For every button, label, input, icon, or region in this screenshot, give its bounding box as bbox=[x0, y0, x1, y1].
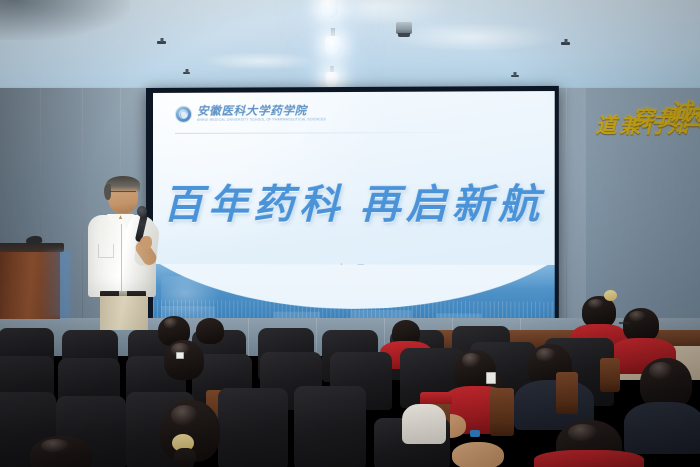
wall-calligraphy: 知 行 兼 道 中 西 贯 穿 博 学 精 诚 bbox=[586, 88, 700, 318]
speaker-presenter bbox=[82, 178, 160, 328]
slide-footer-band bbox=[153, 264, 555, 324]
sprinkler-icon bbox=[157, 41, 166, 44]
seat-armrest bbox=[600, 358, 620, 392]
audience-shoulders bbox=[402, 404, 446, 444]
slide-title: 百年药科 再启新航 bbox=[153, 185, 555, 226]
slide-header: 安徽医科大学药学院 ANHUI MEDICAL UNIVERSITY SCHOO… bbox=[175, 105, 326, 123]
lecture-hall-photo: 知 行 兼 道 中 西 贯 穿 博 学 精 诚 安徽医科大学药学院 bbox=[0, 0, 700, 467]
screen-surface: 安徽医科大学药学院 ANHUI MEDICAL UNIVERSITY SCHOO… bbox=[153, 91, 555, 324]
audience-arm bbox=[452, 442, 504, 467]
wristwatch-icon bbox=[470, 430, 480, 437]
speaker-hand bbox=[140, 236, 152, 249]
sprinkler-icon bbox=[183, 72, 190, 74]
sprinkler-icon bbox=[511, 75, 519, 77]
calligraphy-char: 精 bbox=[692, 100, 700, 123]
audience-head bbox=[30, 436, 92, 467]
lamp-bulb bbox=[321, 0, 338, 18]
audience-shoulders bbox=[624, 402, 700, 454]
speaker-trousers bbox=[100, 296, 148, 330]
institution-name-en: ANHUI MEDICAL UNIVERSITY SCHOOL OF PHARM… bbox=[197, 119, 326, 123]
ponytail bbox=[174, 448, 196, 467]
armrest-pad bbox=[420, 392, 452, 404]
hair-clip bbox=[176, 352, 184, 359]
audience-shoulders bbox=[534, 450, 644, 467]
seat-armrest bbox=[490, 388, 514, 436]
calligraphy-char: 道 bbox=[594, 114, 615, 135]
ceiling bbox=[0, 0, 700, 92]
ceiling-speaker-icon bbox=[396, 22, 412, 34]
projection-screen[interactable]: 安徽医科大学药学院 ANHUI MEDICAL UNIVERSITY SCHOO… bbox=[146, 86, 559, 328]
microphone-head-icon bbox=[137, 206, 147, 217]
calligraphy-char: 穿 bbox=[630, 106, 652, 128]
speaker-glasses-icon bbox=[110, 191, 136, 196]
speaker-shirt-pocket bbox=[98, 244, 114, 258]
calligraphy-column-1: 博 学 精 诚 bbox=[666, 100, 700, 123]
seat-armrest bbox=[556, 372, 578, 414]
ceiling-smudge bbox=[200, 52, 320, 70]
lamp-bulb bbox=[325, 36, 341, 56]
lamp-bulb bbox=[326, 72, 339, 88]
audience-head bbox=[164, 340, 204, 380]
presentation-slide: 安徽医科大学药学院 ANHUI MEDICAL UNIVERSITY SCHOO… bbox=[153, 91, 555, 324]
calligraphy-char: 诚 bbox=[666, 100, 689, 123]
sprinkler-icon bbox=[561, 42, 570, 45]
audience-head bbox=[623, 308, 659, 342]
hair-scrunchie bbox=[604, 290, 617, 301]
speaker-shirt-placket bbox=[121, 224, 122, 294]
ceiling-smudge bbox=[390, 22, 560, 52]
university-crest-icon bbox=[175, 106, 192, 123]
hair-clip bbox=[486, 372, 496, 384]
podium-screen-glow bbox=[40, 250, 70, 318]
institution-name-cn: 安徽医科大学药学院 bbox=[197, 106, 326, 119]
seat[interactable] bbox=[294, 386, 366, 467]
glasses-icon bbox=[619, 322, 629, 324]
seat[interactable] bbox=[218, 388, 288, 467]
ceiling-shadow bbox=[0, 0, 130, 40]
